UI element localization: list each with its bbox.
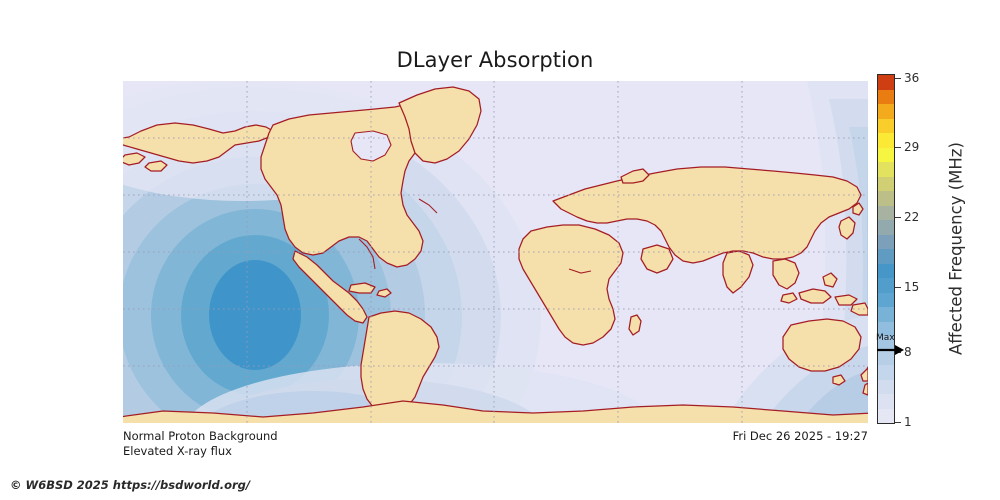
colorbar-segment: [878, 90, 894, 105]
colorbar-segment: [878, 148, 894, 163]
colorbar-tick-1: [895, 422, 901, 423]
colorbar-gradient: [877, 74, 895, 424]
colorbar-label-36: 36: [904, 71, 919, 85]
colorbar-segment: [878, 235, 894, 250]
note-xray-flux: Elevated X-ray flux: [123, 444, 232, 458]
colorbar-segment: [878, 249, 894, 264]
copyright-notice: © W6BSD 2025 https://bsdworld.org/: [10, 478, 250, 492]
colorbar: 36 29 22 15 8 1: [877, 74, 895, 424]
timestamp: Fri Dec 26 2025 - 19:27: [733, 429, 868, 443]
colorbar-label-29: 29: [904, 140, 919, 154]
colorbar-label-1: 1: [904, 415, 912, 429]
colorbar-segment: [878, 322, 894, 337]
colorbar-segment: [878, 293, 894, 308]
colorbar-segment: [878, 264, 894, 279]
colorbar-segment: [878, 307, 894, 322]
colorbar-segment: [878, 133, 894, 148]
colorbar-segment: [878, 177, 894, 192]
colorbar-tick-15: [895, 287, 901, 288]
map-svg: [123, 81, 868, 423]
colorbar-label-15: 15: [904, 280, 919, 294]
colorbar-segment: [878, 394, 894, 409]
colorbar-segment: [878, 220, 894, 235]
colorbar-label-8: 8: [904, 345, 912, 359]
colorbar-label-22: 22: [904, 210, 919, 224]
colorbar-segment: [878, 104, 894, 119]
colorbar-axis-label: Affected Frequency (MHz): [946, 74, 966, 424]
colorbar-segment: [878, 380, 894, 395]
colorbar-segment: [878, 409, 894, 424]
colorbar-segment: [878, 75, 894, 90]
colorbar-segment: [878, 278, 894, 293]
colorbar-tick-22: [895, 217, 901, 218]
figure-root: DLayer Absorption: [0, 0, 1000, 500]
colorbar-segment: [878, 365, 894, 380]
colorbar-segment: [878, 351, 894, 366]
colorbar-tick-8: [895, 352, 901, 353]
colorbar-segment: [878, 191, 894, 206]
colorbar-tick-36: [895, 78, 901, 79]
world-map-axes: [123, 81, 868, 423]
page-title: DLayer Absorption: [0, 48, 990, 72]
colorbar-tick-29: [895, 147, 901, 148]
colorbar-segment: [878, 206, 894, 221]
note-proton-background: Normal Proton Background: [123, 429, 278, 443]
colorbar-segment: [878, 336, 894, 351]
colorbar-segment: [878, 119, 894, 134]
colorbar-segment: [878, 162, 894, 177]
